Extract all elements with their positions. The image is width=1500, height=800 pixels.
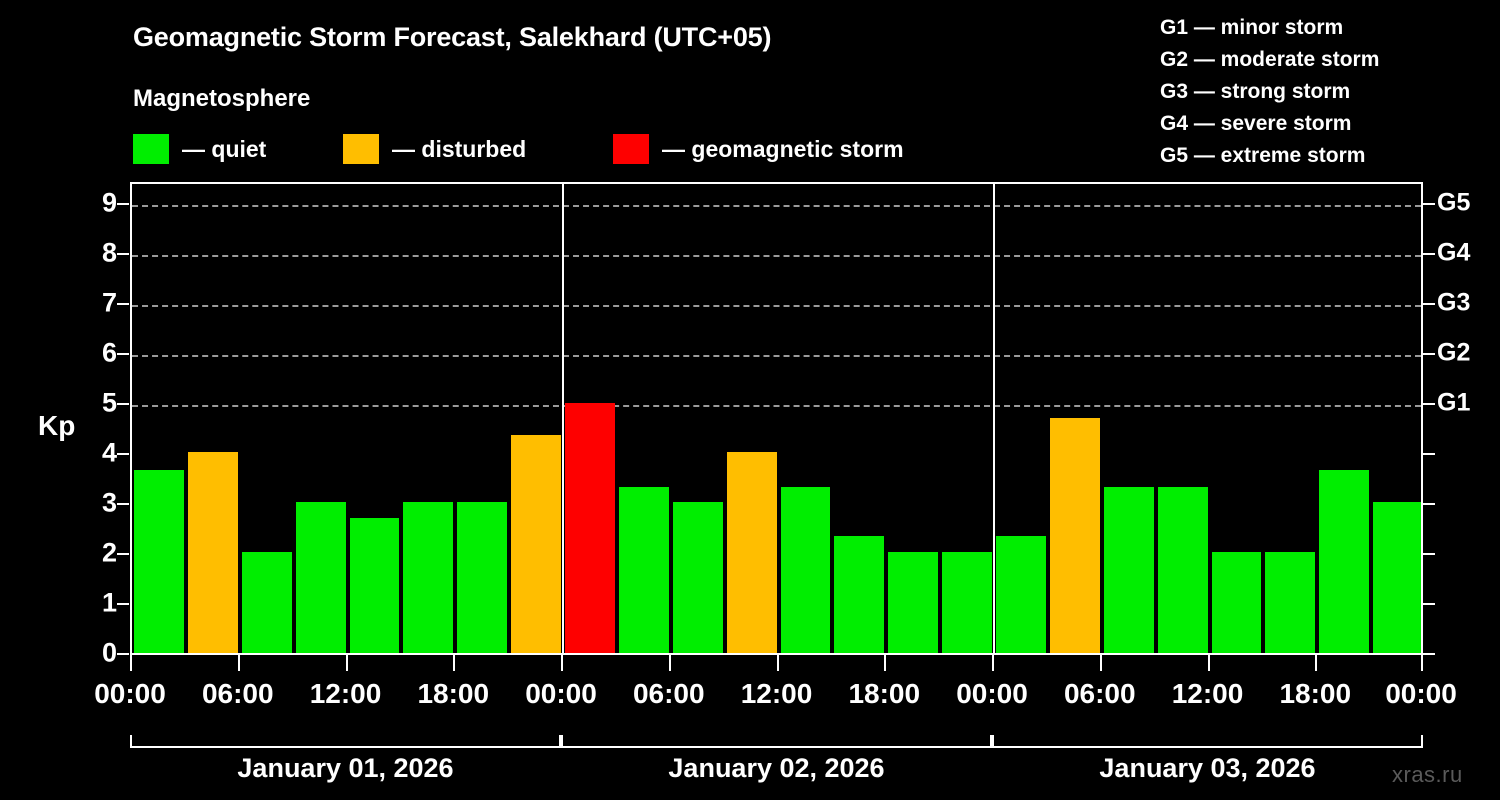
x-tick-11 (1315, 655, 1317, 671)
y-tick-5 (117, 403, 129, 405)
legend-label-storm: — geomagnetic storm (662, 136, 904, 163)
x-tick-label-4: 00:00 (525, 678, 597, 710)
x-tick-2 (346, 655, 348, 671)
page-title: Geomagnetic Storm Forecast, Salekhard (U… (133, 22, 771, 53)
x-tick-8 (992, 655, 994, 671)
y-tick-8 (117, 253, 129, 255)
y-tick-label-0: 0 (77, 638, 117, 669)
bar[interactable] (942, 552, 992, 653)
bar[interactable] (1319, 470, 1369, 654)
legend-swatch-storm-icon (613, 134, 649, 164)
plot-inner (132, 184, 1421, 653)
bar[interactable] (781, 487, 831, 654)
bar[interactable] (1050, 418, 1100, 653)
x-tick-5 (669, 655, 671, 671)
y-right-tick-0 (1423, 653, 1435, 655)
x-tick-4 (561, 655, 563, 671)
gridline-kp-8 (132, 255, 1421, 257)
x-tick-label-11: 18:00 (1279, 678, 1351, 710)
y-tick-label-9: 9 (77, 188, 117, 219)
x-tick-9 (1100, 655, 1102, 671)
x-tick-label-6: 12:00 (741, 678, 813, 710)
y-tick-label-4: 4 (77, 438, 117, 469)
x-tick-1 (238, 655, 240, 671)
y-tick-3 (117, 503, 129, 505)
x-tick-label-1: 06:00 (202, 678, 274, 710)
y-tick-label-3: 3 (77, 488, 117, 519)
date-label-3: January 03, 2026 (1099, 753, 1315, 784)
x-axis-ticks (130, 655, 1423, 671)
chart-page: Geomagnetic Storm Forecast, Salekhard (U… (0, 0, 1500, 800)
g-axis-label-G1: G1 (1437, 389, 1470, 418)
x-tick-7 (884, 655, 886, 671)
magnetosphere-heading: Magnetosphere (133, 85, 310, 113)
bar[interactable] (457, 502, 507, 654)
y-right-tick-5 (1423, 403, 1435, 405)
y-tick-1 (117, 603, 129, 605)
g-legend-row-2: G2 — moderate storm (1160, 44, 1480, 76)
bar[interactable] (1373, 502, 1421, 654)
bar[interactable] (565, 403, 615, 653)
day-separator-2 (993, 184, 995, 653)
y-tick-label-2: 2 (77, 538, 117, 569)
bar[interactable] (727, 452, 777, 654)
gridline-kp-6 (132, 355, 1421, 357)
x-tick-label-9: 06:00 (1064, 678, 1136, 710)
y-right-tick-6 (1423, 353, 1435, 355)
date-bracket-3 (992, 735, 1423, 748)
g-legend-row-4: G4 — severe storm (1160, 108, 1480, 140)
y-axis-left: 0123456789 (55, 182, 117, 655)
y-tick-4 (117, 453, 129, 455)
watermark: xras.ru (1392, 762, 1463, 788)
y-tick-9 (117, 203, 129, 205)
bar[interactable] (403, 502, 453, 654)
bar[interactable] (350, 518, 400, 653)
x-tick-label-8: 00:00 (956, 678, 1028, 710)
g-axis-label-G2: G2 (1437, 339, 1470, 368)
legend-swatch-quiet-icon (133, 134, 169, 164)
bar[interactable] (619, 487, 669, 654)
y-tick-label-5: 5 (77, 388, 117, 419)
gridline-kp-7 (132, 305, 1421, 307)
x-tick-10 (1208, 655, 1210, 671)
g-legend-row-5: G5 — extreme storm (1160, 140, 1480, 172)
legend-label-disturbed: — disturbed (392, 136, 526, 163)
legend-label-quiet: — quiet (182, 136, 266, 163)
y-tick-label-7: 7 (77, 288, 117, 319)
x-tick-label-7: 18:00 (848, 678, 920, 710)
bar[interactable] (1158, 487, 1208, 654)
x-tick-label-12: 00:00 (1385, 678, 1457, 710)
y-right-tick-9 (1423, 203, 1435, 205)
g-axis-label-G4: G4 (1437, 239, 1470, 268)
bar[interactable] (242, 552, 292, 653)
y-tick-label-1: 1 (77, 588, 117, 619)
y-right-tick-3 (1423, 503, 1435, 505)
y-axis-right: G1G2G3G4G5 (1437, 182, 1500, 655)
x-axis-labels: 00:0006:0012:0018:0000:0006:0012:0018:00… (0, 678, 1500, 718)
y-tick-2 (117, 553, 129, 555)
bar[interactable] (888, 552, 938, 653)
bar[interactable] (834, 536, 884, 654)
y-tick-label-6: 6 (77, 338, 117, 369)
y-right-tick-7 (1423, 303, 1435, 305)
date-bracket-2 (561, 735, 992, 748)
g-axis-label-G3: G3 (1437, 289, 1470, 318)
x-tick-0 (130, 655, 132, 671)
y-right-tick-1 (1423, 603, 1435, 605)
plot-area (130, 182, 1423, 655)
bar[interactable] (1212, 552, 1262, 653)
x-tick-12 (1421, 655, 1423, 671)
legend-entry-disturbed: — disturbed (343, 133, 526, 165)
bar[interactable] (1265, 552, 1315, 653)
legend-swatch-disturbed-icon (343, 134, 379, 164)
x-tick-label-3: 18:00 (417, 678, 489, 710)
y-right-tick-8 (1423, 253, 1435, 255)
x-tick-label-10: 12:00 (1172, 678, 1244, 710)
g-scale-legend: G1 — minor stormG2 — moderate stormG3 — … (1160, 12, 1480, 172)
date-brackets (130, 735, 1423, 749)
legend-entry-quiet: — quiet (133, 133, 266, 165)
bar[interactable] (296, 502, 346, 654)
x-tick-label-2: 12:00 (310, 678, 382, 710)
gridline-kp-9 (132, 205, 1421, 207)
g-axis-label-G5: G5 (1437, 189, 1470, 218)
y-right-tick-2 (1423, 553, 1435, 555)
x-tick-6 (777, 655, 779, 671)
y-tick-7 (117, 303, 129, 305)
y-tick-6 (117, 353, 129, 355)
date-label-2: January 02, 2026 (668, 753, 884, 784)
bar[interactable] (673, 502, 723, 654)
date-bracket-1 (130, 735, 561, 748)
y-tick-0 (117, 653, 129, 655)
x-tick-3 (453, 655, 455, 671)
y-tick-label-8: 8 (77, 238, 117, 269)
y-right-tick-4 (1423, 453, 1435, 455)
g-legend-row-3: G3 — strong storm (1160, 76, 1480, 108)
bar[interactable] (511, 435, 561, 653)
bar[interactable] (1104, 487, 1154, 654)
day-separator-1 (562, 184, 564, 653)
gridline-kp-5 (132, 405, 1421, 407)
x-tick-label-5: 06:00 (633, 678, 705, 710)
bar[interactable] (188, 452, 238, 654)
legend-entry-storm: — geomagnetic storm (613, 133, 904, 165)
g-legend-row-1: G1 — minor storm (1160, 12, 1480, 44)
bar[interactable] (134, 470, 184, 654)
bar[interactable] (996, 536, 1046, 654)
date-label-1: January 01, 2026 (237, 753, 453, 784)
x-tick-label-0: 00:00 (94, 678, 166, 710)
